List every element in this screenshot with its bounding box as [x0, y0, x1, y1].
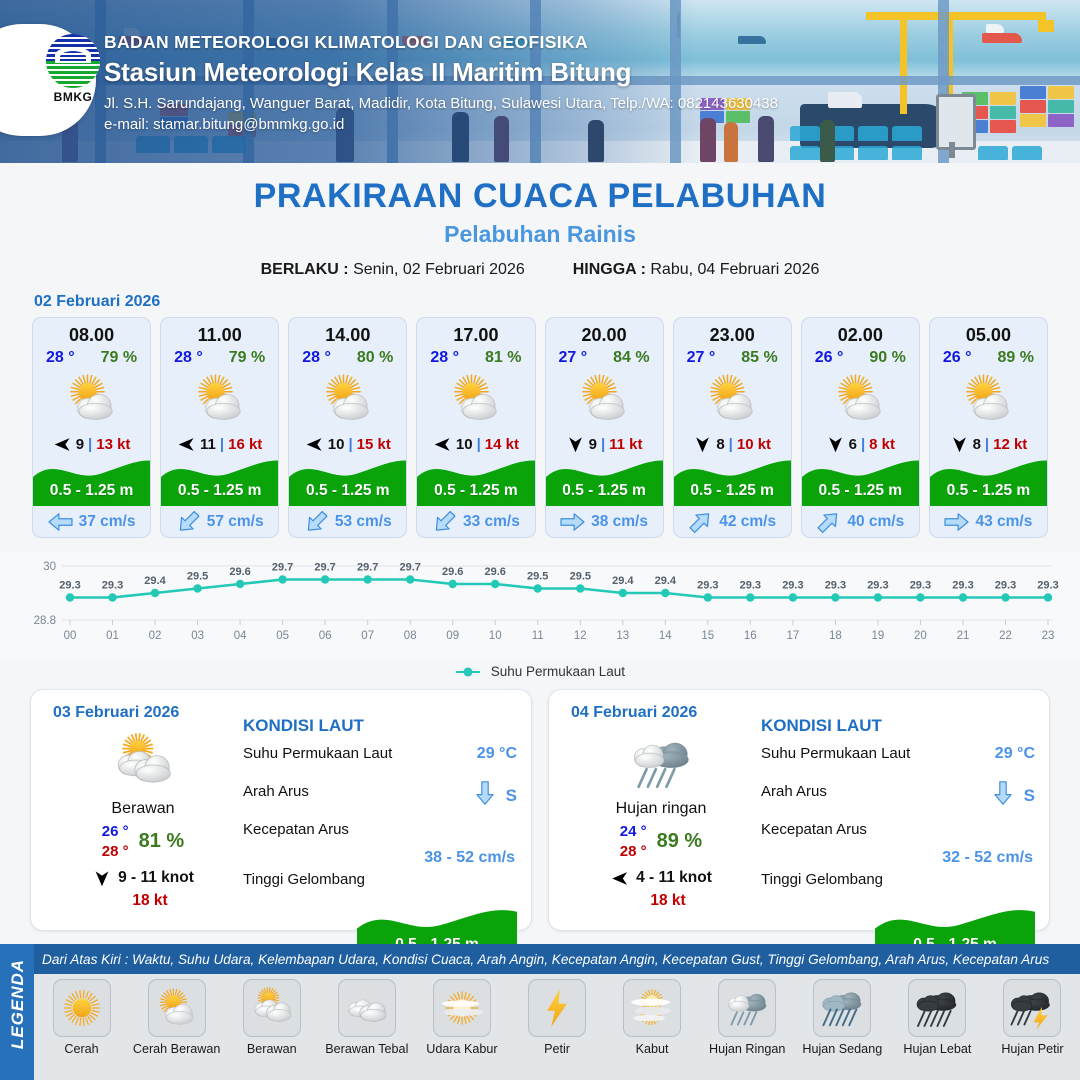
svg-text:13: 13	[616, 630, 629, 642]
wind-speed: 9	[76, 436, 84, 453]
wind-gust: 12 kt	[993, 436, 1027, 453]
wind-separator: |	[220, 436, 224, 453]
person-icon	[820, 120, 835, 162]
card-temperature: 26 °	[943, 349, 972, 367]
wind-gust: 11 kt	[609, 436, 642, 453]
current-direction-icon	[432, 513, 457, 531]
wave-height: 0.5 - 1.25 m	[802, 482, 919, 500]
sst-label: Suhu Permukaan Laut	[761, 745, 949, 762]
berawan-icon	[243, 979, 301, 1037]
sst-value: 29 °C	[431, 745, 517, 763]
sea-conditions: KONDISI LAUT Suhu Permukaan Laut 29 °C A…	[243, 716, 517, 961]
wave-height-row: Tinggi Gelombang	[761, 871, 1035, 909]
seat-icon	[892, 126, 922, 141]
current-direction-icon	[473, 783, 497, 808]
wave-height: 0.5 - 1.25 m	[289, 482, 406, 500]
station-name: Stasiun Meteorologi Kelas II Maritim Bit…	[104, 57, 778, 88]
ship-icon	[986, 24, 1004, 33]
legend-items-strip: Cerah Cerah Berawan Berawan	[34, 974, 1080, 1080]
svg-text:29.3: 29.3	[1037, 580, 1058, 592]
svg-text:04: 04	[234, 630, 247, 642]
svg-text:29.5: 29.5	[570, 571, 591, 583]
hujan-lebat-icon	[908, 979, 966, 1037]
legend-item-label: Hujan Sedang	[795, 1042, 890, 1056]
svg-text:06: 06	[319, 630, 332, 642]
current-direction-icon	[48, 513, 73, 531]
card-wave-block: 0.5 - 1.25 m	[161, 456, 278, 506]
daily-forecast-card: 03 Februari 2026 Berawan 26 ° 28 ° 81 %	[30, 689, 532, 931]
port-name: Pelabuhan Rainis	[0, 221, 1080, 248]
hujan-sedang-icon	[813, 979, 871, 1037]
seat-icon	[858, 126, 888, 141]
berawan-icon	[45, 730, 241, 796]
card-humidity: 84 %	[613, 349, 649, 367]
validity-row: BERLAKU : Senin, 02 Februari 2026 HINGGA…	[0, 261, 1080, 279]
legend-item: Hujan Petir	[985, 979, 1080, 1056]
wind-direction-icon	[950, 436, 969, 453]
station-email: e-mail: stamar.bitung@bmmkg.go.id	[104, 116, 778, 133]
sst-chart-svg: 3028.829.30029.30129.40229.50329.60429.7…	[0, 552, 1080, 660]
current-direction-label: Arah Arus	[761, 783, 949, 800]
current-direction-row: Arah Arus S	[761, 783, 1035, 821]
current-direction-row: Arah Arus S	[243, 783, 517, 821]
legend-section: LEGENDA Dari Atas Kiri : Waktu, Suhu Uda…	[0, 944, 1080, 1080]
card-wave-block: 0.5 - 1.25 m	[546, 456, 663, 506]
wave-height: 0.5 - 1.25 m	[674, 482, 791, 500]
legend-item-label: Udara Kabur	[414, 1042, 509, 1056]
current-speed: 43 cm/s	[975, 513, 1032, 531]
svg-text:29.7: 29.7	[357, 562, 378, 574]
sst-chart: 3028.829.30029.30129.40229.50329.60429.7…	[0, 552, 1080, 660]
display-board-icon	[949, 142, 955, 158]
daily-temp-min: 24 °	[620, 823, 647, 840]
daily-temps: 26 ° 28 ° 81 %	[45, 823, 241, 860]
hourly-card: 02.00 26 ° 90 % 6 | 8 kt 0.5 - 1.25 m 40	[801, 317, 920, 538]
daily-summary: Berawan 26 ° 28 ° 81 % 9 - 11 knot 18 kt	[45, 730, 241, 910]
legend-item-label: Hujan Petir	[985, 1042, 1080, 1056]
valid-from-label: BERLAKU :	[261, 261, 349, 278]
card-time: 20.00	[546, 318, 663, 346]
crane-icon	[866, 12, 1046, 20]
card-humidity: 79 %	[101, 349, 137, 367]
sst-value: 29 °C	[949, 745, 1035, 763]
wind-separator: |	[861, 436, 865, 453]
title-section: PRAKIRAAN CUACA PELABUHAN Pelabuhan Rain…	[0, 163, 1080, 279]
wind-speed: 8	[716, 436, 724, 453]
legend-tab-label: LEGENDA	[8, 948, 28, 1060]
current-direction-icon	[816, 513, 841, 531]
svg-text:20: 20	[914, 630, 927, 642]
wind-speed: 11	[200, 436, 216, 453]
svg-text:29.3: 29.3	[59, 580, 80, 592]
cerah-icon	[53, 979, 111, 1037]
card-temperature: 28 °	[174, 349, 203, 367]
legend-item-label: Berawan	[224, 1042, 319, 1056]
cargo-vessel-icon	[828, 92, 862, 108]
wind-direction-icon	[305, 436, 324, 453]
svg-text:23: 23	[1042, 630, 1055, 642]
valid-from-value: Senin, 02 Februari 2026	[353, 261, 525, 278]
svg-text:22: 22	[999, 630, 1012, 642]
card-current-row: 57 cm/s	[161, 506, 278, 537]
wave-height: 0.5 - 1.25 m	[546, 482, 663, 500]
hujan-ringan-icon	[718, 979, 776, 1037]
cerah-berawan-icon	[148, 979, 206, 1037]
svg-text:15: 15	[701, 630, 714, 642]
legend-item-label: Berawan Tebal	[319, 1042, 414, 1056]
svg-text:29.6: 29.6	[229, 566, 250, 578]
card-time: 11.00	[161, 318, 278, 346]
agency-name: BADAN METEOROLOGI KLIMATOLOGI DAN GEOFIS…	[104, 32, 778, 53]
header-text-block: BADAN METEOROLOGI KLIMATOLOGI DAN GEOFIS…	[104, 32, 778, 133]
container-icon	[1048, 100, 1074, 113]
sea-conditions: KONDISI LAUT Suhu Permukaan Laut 29 °C A…	[761, 716, 1035, 961]
card-wind-row: 10 | 15 kt	[289, 430, 406, 458]
wind-separator: |	[985, 436, 989, 453]
wind-separator: |	[601, 436, 605, 453]
card-temperature: 28 °	[46, 349, 75, 367]
card-time: 14.00	[289, 318, 406, 346]
seat-icon	[892, 146, 922, 160]
svg-text:28.8: 28.8	[34, 615, 56, 627]
seat-icon	[790, 126, 820, 141]
wave-height: 0.5 - 1.25 m	[417, 482, 534, 500]
card-temp-hum-row: 28 ° 81 %	[417, 346, 534, 367]
card-humidity: 81 %	[485, 349, 521, 367]
svg-text:29.5: 29.5	[527, 571, 548, 583]
legend-item: Udara Kabur	[414, 979, 509, 1056]
sea-conditions-title: KONDISI LAUT	[761, 716, 1035, 736]
svg-text:19: 19	[872, 630, 885, 642]
legend-item: Kabut	[605, 979, 700, 1056]
cerah-berawan-icon	[802, 369, 919, 429]
card-current-row: 40 cm/s	[802, 506, 919, 537]
daily-temp-min: 26 °	[102, 823, 129, 840]
station-address: Jl. S.H. Sarundajang, Wanguer Barat, Mad…	[104, 95, 778, 112]
svg-text:29.3: 29.3	[102, 580, 123, 592]
wind-separator: |	[477, 436, 481, 453]
hourly-card: 11.00 28 ° 79 % 11 | 16 kt 0.5 - 1.25 m	[160, 317, 279, 538]
daily-summary: Hujan ringan 24 ° 28 ° 89 % 4 - 11 knot …	[563, 730, 759, 910]
wind-direction-icon	[693, 436, 712, 453]
cerah-berawan-icon	[930, 369, 1047, 429]
legend-item: Berawan	[224, 979, 319, 1056]
svg-text:10: 10	[489, 630, 502, 642]
wave-height-label: Tinggi Gelombang	[243, 871, 517, 888]
chart-legend: Suhu Permukaan Laut	[0, 664, 1080, 679]
card-time: 08.00	[33, 318, 150, 346]
current-speed-value: 32 - 52 cm/s	[761, 849, 1033, 867]
ship-icon	[982, 33, 1022, 43]
card-time: 17.00	[417, 318, 534, 346]
current-direction-icon	[944, 513, 969, 531]
wind-speed: 9	[589, 436, 597, 453]
current-direction-icon	[176, 513, 201, 531]
daily-wind-gust: 18 kt	[563, 892, 759, 910]
daily-temp-max: 28 °	[620, 843, 647, 860]
current-speed: 33 cm/s	[463, 513, 520, 531]
legend-item: Cerah Berawan	[129, 979, 224, 1056]
hourly-date-label: 02 Februari 2026	[34, 293, 1080, 311]
seat-icon	[978, 146, 1008, 160]
card-current-row: 33 cm/s	[417, 506, 534, 537]
wind-speed: 8	[973, 436, 981, 453]
container-icon	[1048, 86, 1074, 99]
seat-icon	[1012, 146, 1042, 160]
seat-icon	[858, 146, 888, 160]
svg-text:29.4: 29.4	[144, 575, 166, 587]
wave-height: 0.5 - 1.25 m	[161, 482, 278, 500]
card-wind-row: 11 | 16 kt	[161, 430, 278, 458]
hourly-card: 05.00 26 ° 89 % 8 | 12 kt 0.5 - 1.25 m 4	[929, 317, 1048, 538]
daily-wind-row: 4 - 11 knot	[563, 869, 759, 887]
wind-gust: 16 kt	[228, 436, 262, 453]
legend-item-label: Cerah	[34, 1042, 129, 1056]
container-icon	[990, 106, 1016, 119]
daily-temps: 24 ° 28 ° 89 %	[563, 823, 759, 860]
svg-text:29.7: 29.7	[314, 562, 335, 574]
card-temp-hum-row: 28 ° 79 %	[33, 346, 150, 367]
svg-text:21: 21	[957, 630, 970, 642]
current-direction-icon	[560, 513, 585, 531]
wave-height-row: Tinggi Gelombang	[243, 871, 517, 909]
container-icon	[1048, 114, 1074, 127]
svg-text:29.3: 29.3	[867, 580, 888, 592]
svg-text:29.5: 29.5	[187, 571, 208, 583]
berawan-tebal-icon	[338, 979, 396, 1037]
hujan-petir-icon	[1003, 979, 1061, 1037]
container-icon	[1020, 114, 1046, 127]
svg-text:03: 03	[191, 630, 204, 642]
daily-temp-max: 28 °	[102, 843, 129, 860]
svg-text:02: 02	[149, 630, 162, 642]
card-time: 02.00	[802, 318, 919, 346]
current-speed: 38 cm/s	[591, 513, 648, 531]
svg-text:09: 09	[446, 630, 459, 642]
daily-wind-gust: 18 kt	[45, 892, 241, 910]
valid-from: BERLAKU : Senin, 02 Februari 2026	[261, 261, 525, 279]
daily-condition: Hujan ringan	[563, 800, 759, 818]
legend-note: Dari Atas Kiri : Waktu, Suhu Udara, Kele…	[42, 952, 1074, 967]
crane-icon	[1038, 20, 1054, 32]
legend-item: Hujan Sedang	[795, 979, 890, 1056]
card-humidity: 85 %	[741, 349, 777, 367]
legend-item-label: Petir	[509, 1042, 604, 1056]
cerah-berawan-icon	[161, 369, 278, 429]
current-direction-icon	[688, 513, 713, 531]
card-wave-block: 0.5 - 1.25 m	[417, 456, 534, 506]
card-humidity: 79 %	[229, 349, 265, 367]
wind-speed: 10	[328, 436, 345, 453]
daily-condition: Berawan	[45, 800, 241, 818]
svg-text:29.3: 29.3	[952, 580, 973, 592]
hujan-ringan-icon	[563, 730, 759, 796]
card-humidity: 89 %	[998, 349, 1034, 367]
card-current-row: 38 cm/s	[546, 506, 663, 537]
hourly-card: 08.00 28 ° 79 % 9 | 13 kt 0.5 - 1.25 m 3	[32, 317, 151, 538]
cerah-berawan-icon	[674, 369, 791, 429]
current-speed: 40 cm/s	[847, 513, 904, 531]
card-temperature: 27 °	[559, 349, 588, 367]
chart-legend-label: Suhu Permukaan Laut	[491, 664, 625, 679]
svg-text:07: 07	[361, 630, 374, 642]
bmkg-logo-icon	[46, 34, 100, 88]
card-current-row: 42 cm/s	[674, 506, 791, 537]
card-wind-row: 6 | 8 kt	[802, 430, 919, 458]
bmkg-logo: BMKG	[44, 34, 102, 100]
current-direction-label: Arah Arus	[243, 783, 431, 800]
svg-text:18: 18	[829, 630, 842, 642]
svg-text:01: 01	[106, 630, 119, 642]
card-humidity: 90 %	[869, 349, 905, 367]
card-wave-block: 0.5 - 1.25 m	[674, 456, 791, 506]
card-wave-block: 0.5 - 1.25 m	[289, 456, 406, 506]
card-wind-row: 10 | 14 kt	[417, 430, 534, 458]
card-temperature: 28 °	[302, 349, 331, 367]
legend-item: Hujan Ringan	[700, 979, 795, 1056]
svg-text:29.3: 29.3	[910, 580, 931, 592]
wind-speed: 6	[849, 436, 857, 453]
current-speed: 42 cm/s	[719, 513, 776, 531]
seat-icon	[790, 146, 820, 160]
card-wind-row: 9 | 11 kt	[546, 430, 663, 458]
current-speed-value: 38 - 52 cm/s	[243, 849, 515, 867]
card-current-row: 43 cm/s	[930, 506, 1047, 537]
legend-item-label: Cerah Berawan	[129, 1042, 224, 1056]
svg-text:29.6: 29.6	[484, 566, 505, 578]
legend-item: Berawan Tebal	[319, 979, 414, 1056]
container-icon	[990, 120, 1016, 133]
svg-text:08: 08	[404, 630, 417, 642]
svg-text:29.3: 29.3	[697, 580, 718, 592]
card-time: 23.00	[674, 318, 791, 346]
chart-legend-marker	[455, 667, 481, 677]
card-wind-row: 8 | 12 kt	[930, 430, 1047, 458]
current-direction-icon	[304, 513, 329, 531]
current-speed: 57 cm/s	[207, 513, 264, 531]
hourly-card: 14.00 28 ° 80 % 10 | 15 kt 0.5 - 1.25 m	[288, 317, 407, 538]
legend-item-label: Hujan Lebat	[890, 1042, 985, 1056]
current-speed: 37 cm/s	[79, 513, 136, 531]
card-temp-hum-row: 28 ° 80 %	[289, 346, 406, 367]
card-temp-hum-row: 27 ° 84 %	[546, 346, 663, 367]
legend-tab: LEGENDA	[0, 944, 34, 1080]
wind-direction-icon	[566, 436, 585, 453]
card-temperature: 27 °	[687, 349, 716, 367]
cerah-berawan-icon	[546, 369, 663, 429]
daily-date: 04 Februari 2026	[571, 704, 697, 722]
wave-height-label: Tinggi Gelombang	[761, 871, 1035, 888]
svg-text:29.3: 29.3	[782, 580, 803, 592]
svg-text:29.7: 29.7	[399, 562, 420, 574]
daily-humidity: 89 %	[657, 830, 703, 853]
valid-until-value: Rabu, 04 Februari 2026	[650, 261, 819, 278]
hourly-card: 23.00 27 ° 85 % 8 | 10 kt 0.5 - 1.25 m 4	[673, 317, 792, 538]
container-icon	[1020, 86, 1046, 99]
card-humidity: 80 %	[357, 349, 393, 367]
wind-direction-icon	[826, 436, 845, 453]
petir-icon	[528, 979, 586, 1037]
wind-speed: 10	[456, 436, 473, 453]
legend-item-label: Hujan Ringan	[700, 1042, 795, 1056]
current-speed-label: Kecepatan Arus	[761, 821, 1035, 838]
card-wave-block: 0.5 - 1.25 m	[33, 456, 150, 506]
wind-gust: 14 kt	[485, 436, 519, 453]
cerah-berawan-icon	[289, 369, 406, 429]
svg-text:29.3: 29.3	[740, 580, 761, 592]
wave-height: 0.5 - 1.25 m	[930, 482, 1047, 500]
svg-text:29.7: 29.7	[272, 562, 293, 574]
container-icon	[1020, 100, 1046, 113]
daily-wind-row: 9 - 11 knot	[45, 869, 241, 887]
display-board-icon	[936, 94, 976, 150]
svg-text:11: 11	[532, 630, 544, 642]
hourly-card: 17.00 28 ° 81 % 10 | 14 kt 0.5 - 1.25 m	[416, 317, 535, 538]
legend-item-label: Kabut	[605, 1042, 700, 1056]
card-current-row: 53 cm/s	[289, 506, 406, 537]
wind-direction-icon	[433, 436, 452, 453]
current-direction-value: S	[1024, 786, 1035, 806]
daily-humidity: 81 %	[139, 830, 185, 853]
card-temp-hum-row: 26 ° 90 %	[802, 346, 919, 367]
svg-text:16: 16	[744, 630, 757, 642]
card-temp-hum-row: 27 ° 85 %	[674, 346, 791, 367]
svg-text:12: 12	[574, 630, 587, 642]
bmkg-logo-text: BMKG	[44, 90, 102, 104]
daily-forecast-card: 04 Februari 2026 Hujan ringan 24 ° 28 ° …	[548, 689, 1050, 931]
wind-direction-icon	[53, 436, 72, 453]
svg-text:30: 30	[43, 561, 56, 573]
wind-direction-icon	[610, 870, 630, 887]
current-direction-icon	[991, 783, 1015, 808]
card-wave-block: 0.5 - 1.25 m	[802, 456, 919, 506]
wind-gust: 8 kt	[869, 436, 895, 453]
svg-text:00: 00	[64, 630, 77, 642]
card-temperature: 28 °	[430, 349, 459, 367]
svg-text:05: 05	[276, 630, 289, 642]
svg-text:29.6: 29.6	[442, 566, 463, 578]
page-title: PRAKIRAAN CUACA PELABUHAN	[0, 177, 1080, 216]
current-speed: 53 cm/s	[335, 513, 392, 531]
card-time: 05.00	[930, 318, 1047, 346]
card-wind-row: 9 | 13 kt	[33, 430, 150, 458]
svg-text:29.3: 29.3	[825, 580, 846, 592]
wind-separator: |	[729, 436, 733, 453]
card-temperature: 26 °	[815, 349, 844, 367]
daily-wind-range: 4 - 11 knot	[636, 869, 712, 887]
svg-text:14: 14	[659, 630, 672, 642]
page-header: BMKG BADAN METEOROLOGI KLIMATOLOGI DAN G…	[0, 0, 1080, 163]
daily-wind-range: 9 - 11 knot	[118, 869, 194, 887]
legend-item: Cerah	[34, 979, 129, 1056]
current-speed-label: Kecepatan Arus	[243, 821, 517, 838]
container-icon	[990, 92, 1016, 105]
legend-item: Hujan Lebat	[890, 979, 985, 1056]
cerah-berawan-icon	[417, 369, 534, 429]
hourly-forecast-row: 08.00 28 ° 79 % 9 | 13 kt 0.5 - 1.25 m 3	[0, 317, 1080, 538]
card-wind-row: 8 | 10 kt	[674, 430, 791, 458]
card-current-row: 37 cm/s	[33, 506, 150, 537]
valid-until: HINGGA : Rabu, 04 Februari 2026	[573, 261, 820, 279]
svg-text:29.3: 29.3	[995, 580, 1016, 592]
wind-direction-icon	[177, 436, 196, 453]
daily-forecast-row: 03 Februari 2026 Berawan 26 ° 28 ° 81 %	[0, 679, 1080, 931]
card-wave-block: 0.5 - 1.25 m	[930, 456, 1047, 506]
svg-text:17: 17	[787, 630, 800, 642]
current-direction-value: S	[506, 786, 517, 806]
wind-separator: |	[88, 436, 92, 453]
card-temp-hum-row: 28 ° 79 %	[161, 346, 278, 367]
